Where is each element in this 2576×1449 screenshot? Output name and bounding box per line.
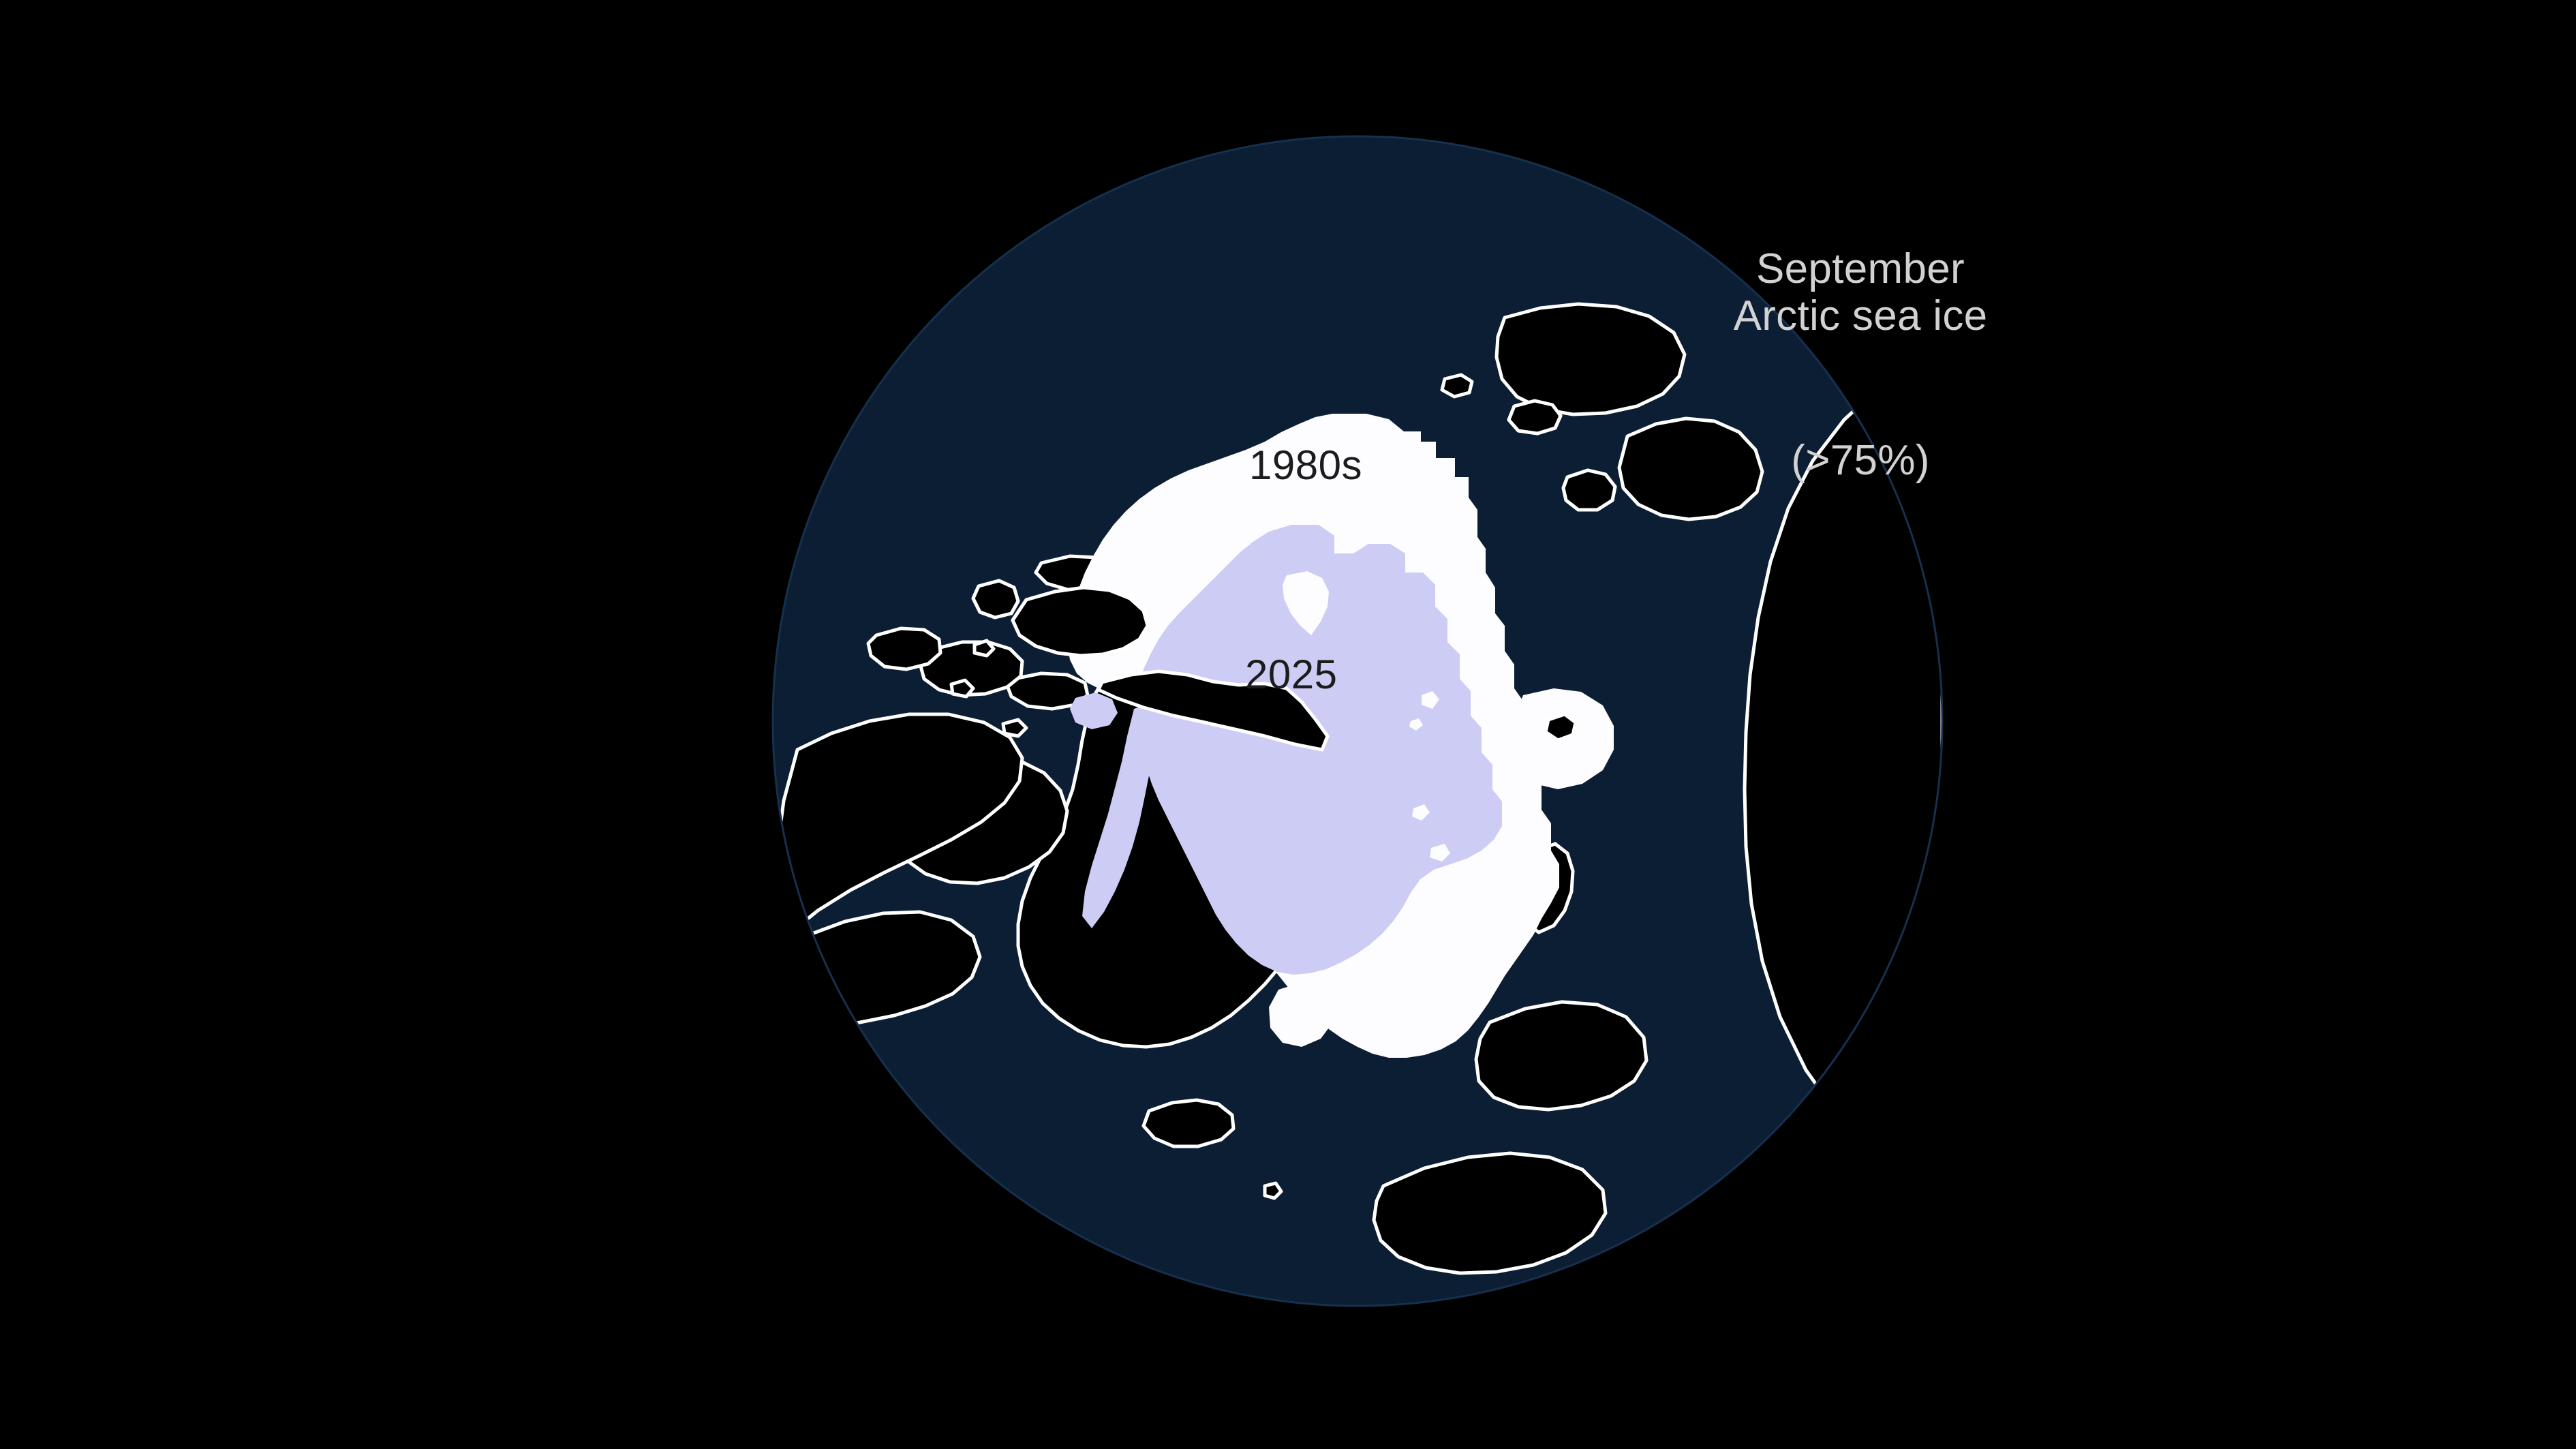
land-faroe-islands [1265, 1183, 1281, 1198]
land-qe-island-a [975, 641, 994, 656]
land-taymyr-peninsula [1619, 418, 1762, 519]
land-severnaya-zemlya-overlay [1563, 470, 1615, 510]
land-franz-josef-overlay [1546, 714, 1576, 740]
land-ellesmere-overlay [1013, 588, 1148, 656]
land-qe-island-c [1003, 720, 1026, 736]
visualization-canvas: September Arctic sea ice (>75%) 1980s 20… [0, 0, 2576, 1449]
land-wrangel-island [1442, 375, 1472, 397]
land-axel-heiberg-overlay [973, 581, 1018, 617]
land-banks-island [868, 628, 940, 669]
land-new-siberian-overlay [1509, 401, 1561, 433]
land-chukotka [1497, 304, 1685, 414]
arctic-globe-map [0, 0, 2576, 1449]
land-iceland [1144, 1100, 1233, 1146]
